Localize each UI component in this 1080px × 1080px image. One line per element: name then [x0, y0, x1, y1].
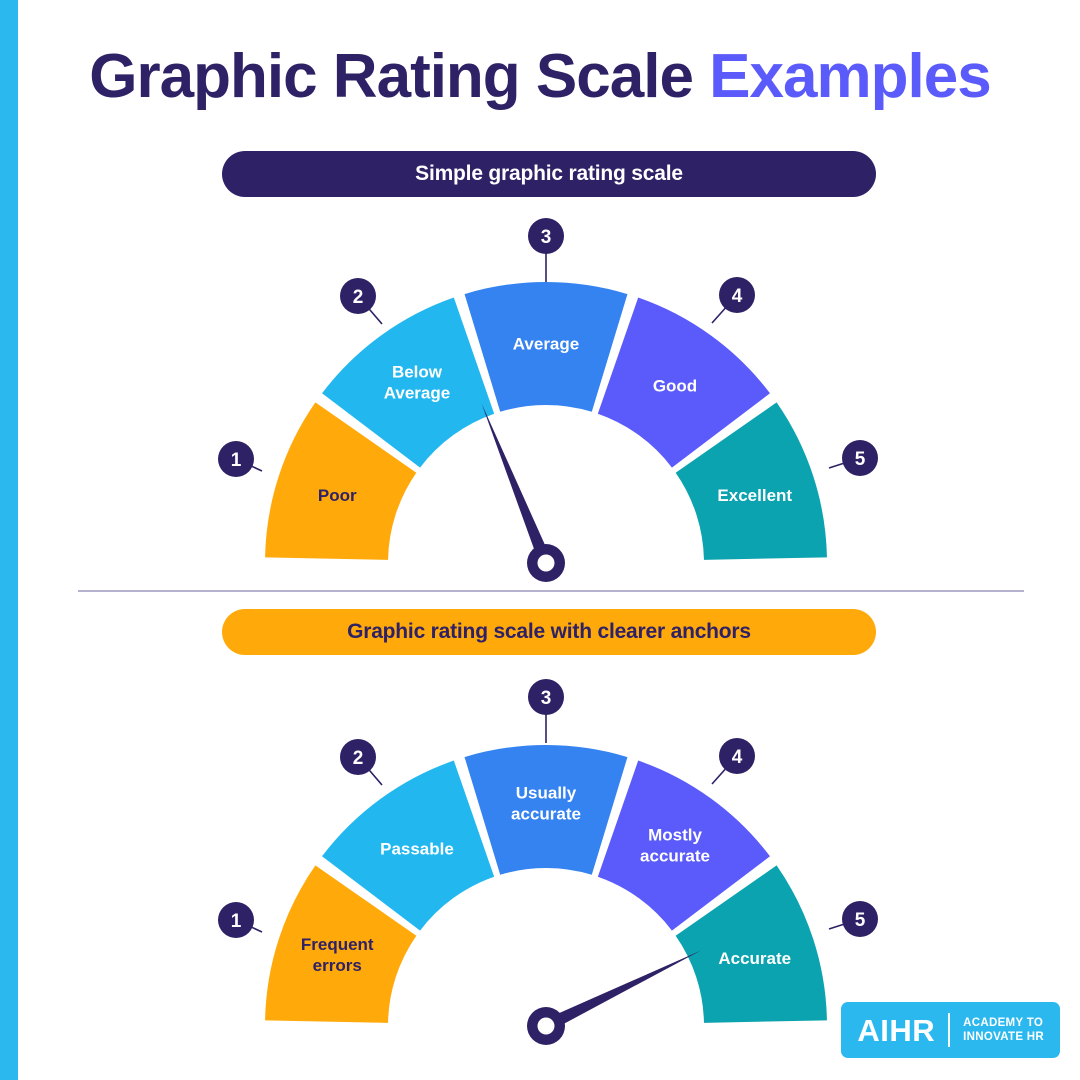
infographic-canvas: Graphic Rating Scale Examples Simple gra…: [0, 0, 1080, 1080]
gauge-needle-hub-center: [538, 555, 555, 572]
section-banner-clearer-anchors: Graphic rating scale with clearer anchor…: [222, 609, 876, 655]
gauge-badge-number-3: 3: [541, 227, 552, 248]
gauge-simple-rating-scale: PoorBelowAverageAverageGoodExcellent1234…: [0, 190, 1080, 590]
gauge-badge-number-5: 5: [855, 449, 866, 470]
section-divider: [78, 590, 1024, 592]
gauge-svg: FrequenterrorsPassableUsuallyaccurateMos…: [0, 652, 1080, 1052]
gauge-badge-number-1: 1: [231, 911, 242, 932]
page-title: Graphic Rating Scale Examples: [0, 44, 1080, 109]
gauge-needle[interactable]: [543, 951, 700, 1032]
aihr-logo-wordmark: AIHR: [857, 1015, 935, 1046]
gauge-segment-3[interactable]: [465, 745, 628, 875]
gauge-segment-3[interactable]: [465, 282, 628, 412]
gauge-badge-number-4: 4: [732, 747, 743, 768]
page-title-main: Graphic Rating Scale: [89, 42, 693, 111]
gauge-badge-number-2: 2: [353, 748, 364, 769]
gauge-badge-number-5: 5: [855, 910, 866, 931]
page-title-accent: Examples: [709, 42, 991, 111]
gauge-badge-number-3: 3: [541, 688, 552, 709]
aihr-logo-tagline: ACADEMY TO INNOVATE HR: [963, 1016, 1044, 1045]
gauge-needle-hub-center: [538, 1018, 555, 1035]
gauge-needle[interactable]: [482, 404, 552, 566]
gauge-badge-number-1: 1: [231, 450, 242, 471]
gauge-svg: PoorBelowAverageAverageGoodExcellent1234…: [0, 190, 1080, 590]
aihr-logo: AIHR ACADEMY TO INNOVATE HR: [841, 1002, 1060, 1058]
gauge-badge-number-2: 2: [353, 287, 364, 308]
gauge-clearer-anchors: FrequenterrorsPassableUsuallyaccurateMos…: [0, 652, 1080, 1052]
aihr-logo-divider: [948, 1013, 950, 1047]
section-banner-clearer-anchors-label: Graphic rating scale with clearer anchor…: [347, 620, 751, 644]
section-banner-simple-label: Simple graphic rating scale: [415, 162, 683, 186]
aihr-logo-tagline-line1: ACADEMY TO: [963, 1016, 1044, 1030]
gauge-badge-number-4: 4: [732, 286, 743, 307]
aihr-logo-tagline-line2: INNOVATE HR: [963, 1030, 1044, 1044]
